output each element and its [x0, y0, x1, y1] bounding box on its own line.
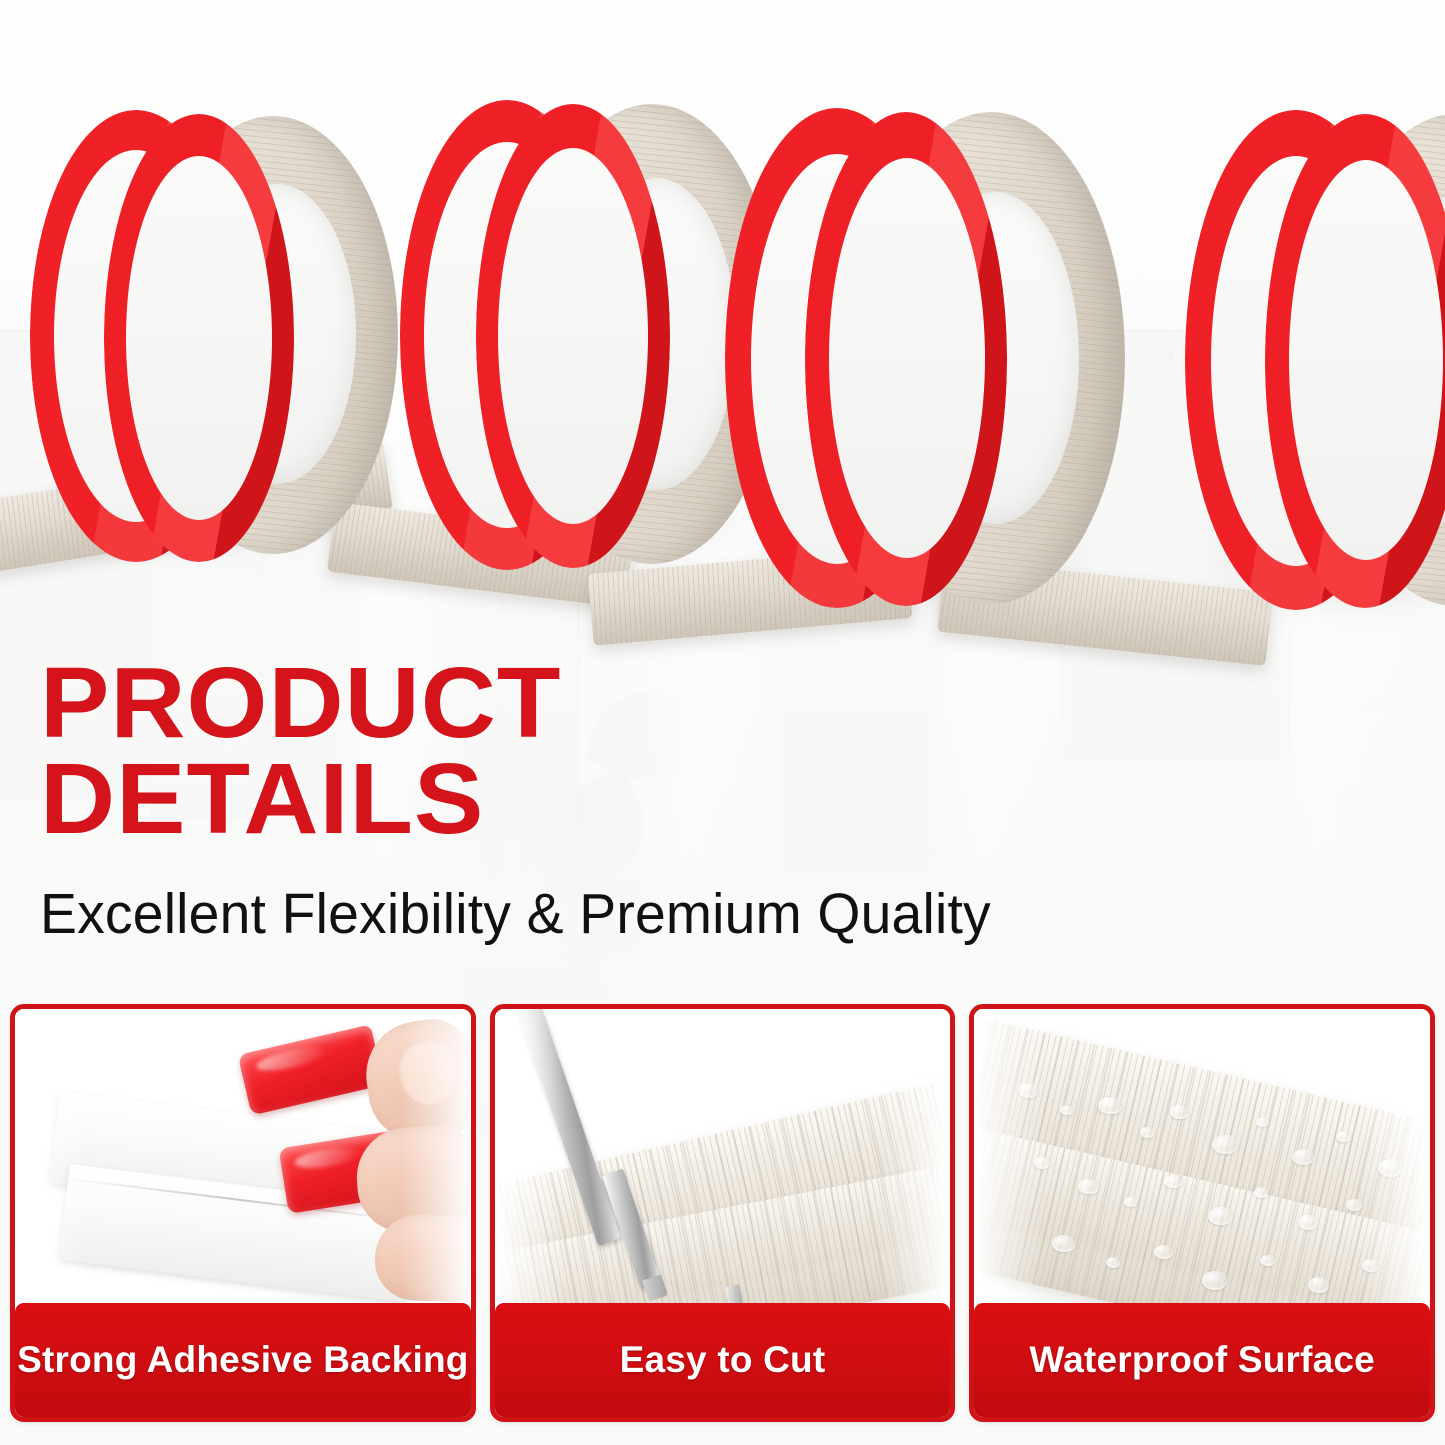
- water-droplet: [1098, 1097, 1122, 1114]
- water-droplet: [1292, 1149, 1314, 1165]
- product-details-poster: PRODUCT DETAILS Excellent Flexibility & …: [0, 0, 1445, 1445]
- water-droplet: [1140, 1127, 1154, 1138]
- water-droplet: [1254, 1187, 1268, 1198]
- water-droplet: [1124, 1197, 1137, 1207]
- coil-red-band-core: [126, 156, 272, 520]
- water-droplet: [1018, 1083, 1038, 1098]
- card-photo-adhesive: [15, 1009, 471, 1303]
- water-droplet: [1362, 1259, 1379, 1272]
- card-caption-adhesive: Strong Adhesive Backing: [15, 1303, 471, 1417]
- water-droplet: [1164, 1175, 1182, 1188]
- coil-red-band-core: [498, 148, 648, 524]
- card-photo-waterproof: [974, 1009, 1430, 1303]
- finger: [374, 1213, 471, 1303]
- feature-card-waterproof[interactable]: Waterproof Surface: [969, 1004, 1435, 1422]
- tape-coil: [400, 100, 780, 570]
- feature-card-row: Strong Adhesive Backing Easy to Cut: [10, 1004, 1435, 1422]
- water-droplet: [1052, 1235, 1075, 1252]
- water-droplet: [1378, 1159, 1402, 1177]
- feature-card-cut[interactable]: Easy to Cut: [490, 1004, 956, 1422]
- water-droplet: [1208, 1207, 1233, 1225]
- card-photo-cut: [495, 1009, 951, 1303]
- headline-line-2: DETAILS: [40, 751, 1205, 847]
- feature-card-adhesive[interactable]: Strong Adhesive Backing: [10, 1004, 476, 1422]
- water-droplet: [1260, 1255, 1275, 1266]
- card-caption-waterproof: Waterproof Surface: [974, 1303, 1430, 1417]
- water-droplet: [1170, 1105, 1189, 1119]
- water-droplet: [1336, 1131, 1351, 1142]
- water-droplet: [1154, 1245, 1173, 1259]
- water-droplet: [1212, 1135, 1238, 1154]
- water-droplet: [1346, 1199, 1362, 1211]
- hero-coiled-tape: [0, 0, 1445, 720]
- page-title: PRODUCT DETAILS: [40, 655, 1205, 847]
- coil-red-band-core: [829, 158, 985, 558]
- tape-coil: [725, 108, 1125, 608]
- water-droplet: [1298, 1215, 1318, 1230]
- tape-coil: [1185, 110, 1445, 610]
- water-droplet: [1256, 1117, 1269, 1127]
- text-block: PRODUCT DETAILS Excellent Flexibility & …: [40, 655, 1160, 947]
- coil-red-band-core: [1289, 160, 1443, 560]
- water-droplet: [1202, 1271, 1227, 1290]
- water-droplet: [1060, 1105, 1073, 1115]
- subheadline: Excellent Flexibility & Premium Quality: [40, 881, 1126, 947]
- water-droplet: [1308, 1277, 1329, 1293]
- card-caption-cut: Easy to Cut: [495, 1303, 951, 1417]
- water-droplet: [1106, 1257, 1120, 1268]
- red-release-liner: [238, 1024, 384, 1115]
- water-droplet: [1034, 1157, 1050, 1169]
- water-droplet: [1078, 1179, 1099, 1194]
- tape-coil: [30, 110, 400, 560]
